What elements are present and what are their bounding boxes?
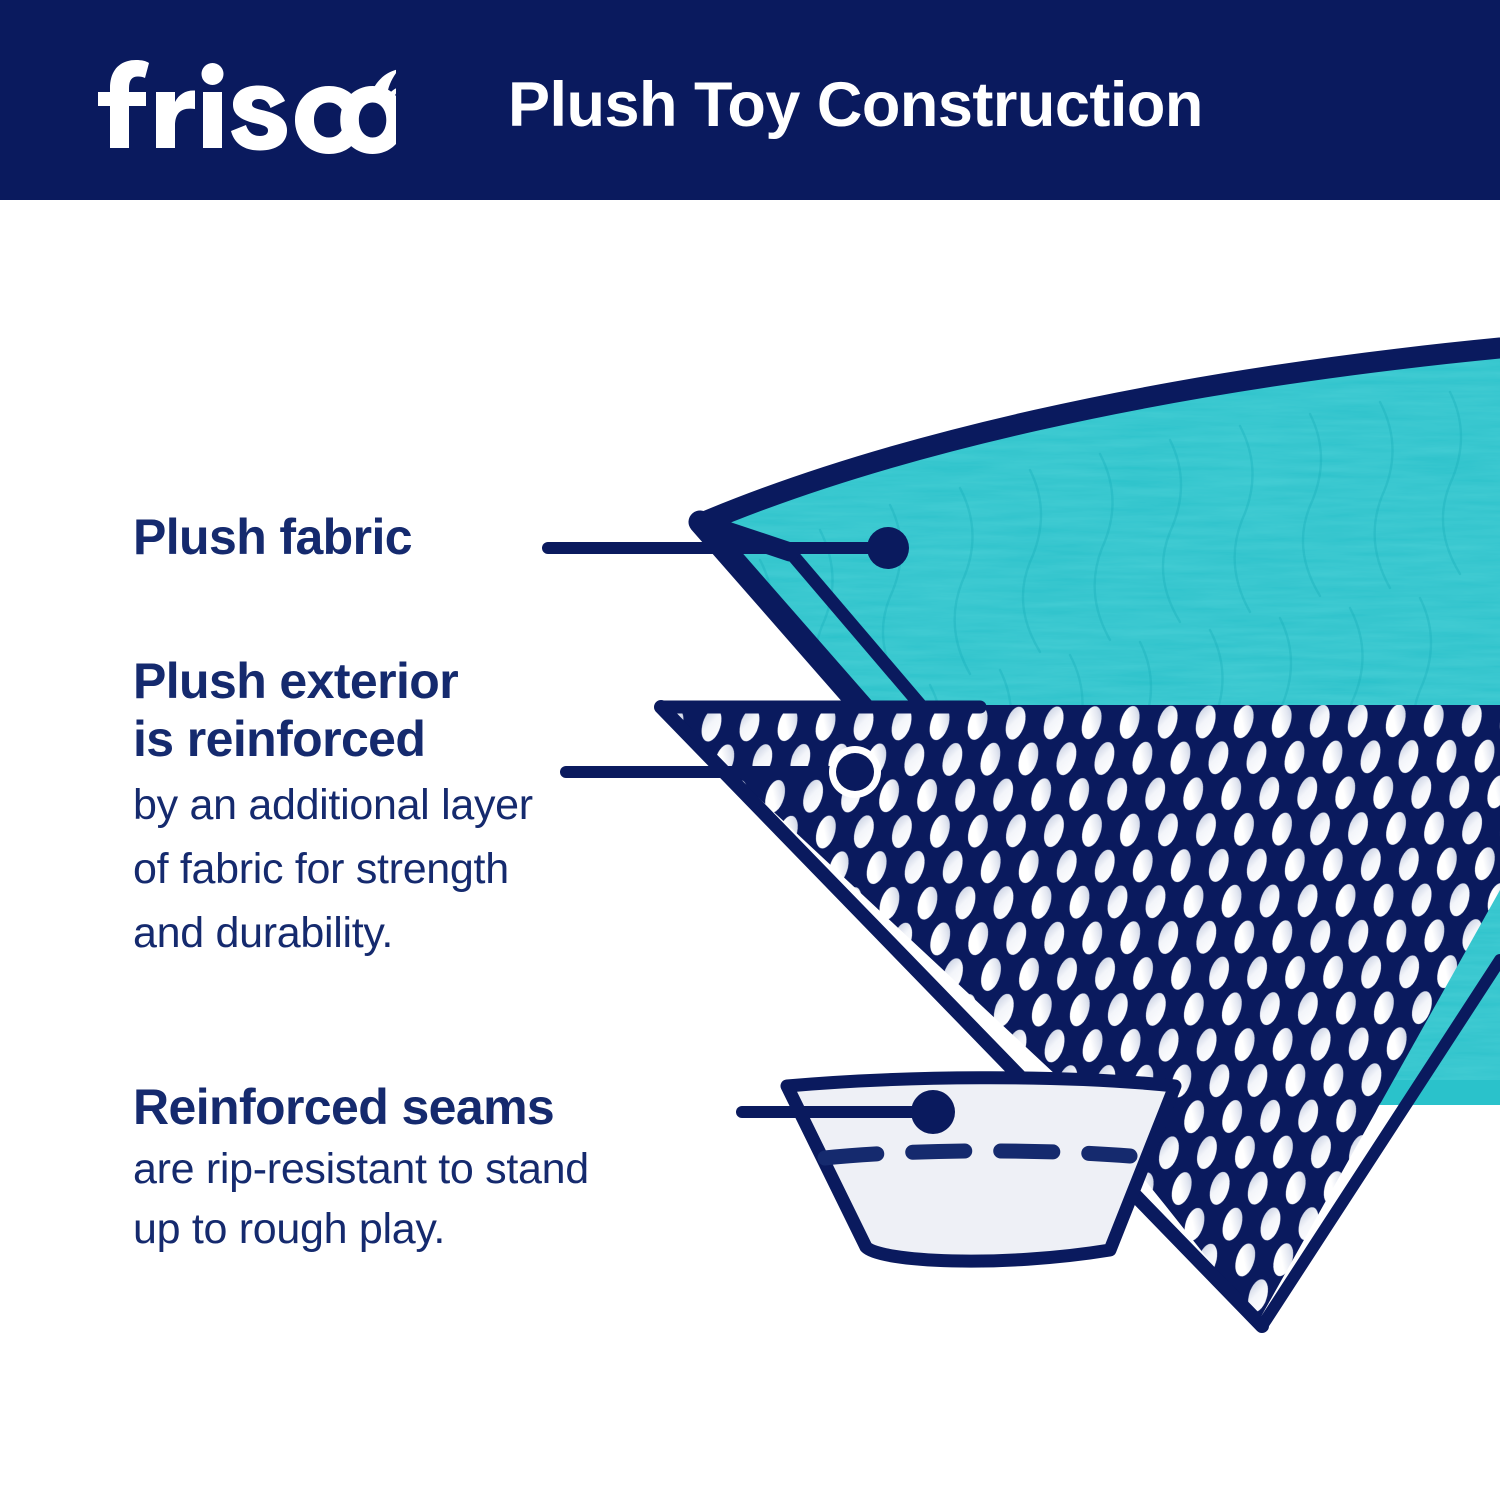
frisco-logo: ® (76, 52, 396, 158)
frisco-wordmark-icon: ® (76, 52, 396, 158)
callout-plush-fabric: Plush fabric (133, 508, 412, 566)
infographic-page: ® Plush Toy Construction (0, 0, 1500, 1500)
header-bar: ® Plush Toy Construction (0, 0, 1500, 200)
page-title: Plush Toy Construction (508, 56, 1203, 154)
callout-plush-exterior: Plush exterior is reinforced by an addit… (133, 652, 533, 960)
callout-plush-fabric-headline-1: Plush fabric (133, 508, 412, 566)
callout-plush-exterior-headline-2: is reinforced (133, 710, 533, 768)
callout-reinforced-seams-body-1: are rip-resistant to stand (133, 1142, 589, 1196)
seam-flap-panel (787, 1078, 1175, 1261)
leader-dot-reinforced-seams (911, 1090, 955, 1134)
callout-plush-exterior-body-2: of fabric for strength (133, 842, 533, 896)
callout-plush-exterior-body-3: and durability. (133, 906, 533, 960)
leader-dot-plush-exterior (836, 753, 874, 791)
callout-reinforced-seams: Reinforced seams are rip-resistant to st… (133, 1078, 589, 1256)
leader-dot-plush-fabric (867, 527, 909, 569)
callout-reinforced-seams-headline-1: Reinforced seams (133, 1078, 589, 1136)
callout-plush-exterior-body-1: by an additional layer (133, 778, 533, 832)
callout-plush-exterior-headline-1: Plush exterior (133, 652, 533, 710)
seam-flap-layer (787, 1078, 1175, 1261)
registered-trademark-symbol: ® (378, 138, 388, 153)
callout-reinforced-seams-body-2: up to rough play. (133, 1202, 589, 1256)
